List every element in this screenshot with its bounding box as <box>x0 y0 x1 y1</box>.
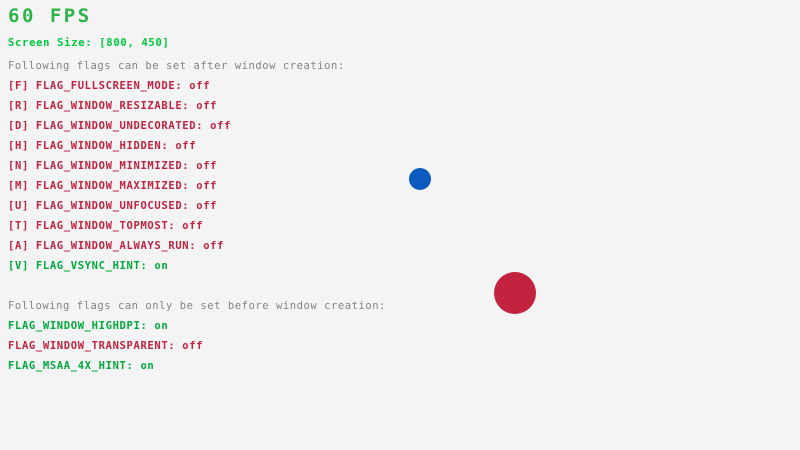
flag-toggle-flag-vsync-hint[interactable]: [V] FLAG_VSYNC_HINT: on <box>8 261 168 272</box>
flag-toggle-flag-window-hidden[interactable]: [H] FLAG_WINDOW_HIDDEN: off <box>8 141 196 152</box>
flag-toggle-flag-window-resizable[interactable]: [R] FLAG_WINDOW_RESIZABLE: off <box>8 101 217 112</box>
flag-toggle-flag-window-maximized[interactable]: [M] FLAG_WINDOW_MAXIMIZED: off <box>8 181 217 192</box>
raylib-window-canvas: 60 FPS Screen Size: [800, 450] Following… <box>0 0 800 450</box>
bouncing-ball-blue <box>409 168 431 190</box>
flag-static-flag-msaa-4x-hint[interactable]: FLAG_MSAA_4X_HINT: on <box>8 361 154 372</box>
runtime-flags-header: Following flags can be set after window … <box>8 61 345 72</box>
flag-static-flag-window-transparent[interactable]: FLAG_WINDOW_TRANSPARENT: off <box>8 341 203 352</box>
screen-size-label: Screen Size: [800, 450] <box>8 38 170 49</box>
flag-toggle-flag-window-unfocused[interactable]: [U] FLAG_WINDOW_UNFOCUSED: off <box>8 201 217 212</box>
creation-flags-header: Following flags can only be set before w… <box>8 301 386 312</box>
flag-static-flag-window-highdpi[interactable]: FLAG_WINDOW_HIGHDPI: on <box>8 321 168 332</box>
flag-toggle-flag-fullscreen-mode[interactable]: [F] FLAG_FULLSCREEN_MODE: off <box>8 81 210 92</box>
flag-toggle-flag-window-topmost[interactable]: [T] FLAG_WINDOW_TOPMOST: off <box>8 221 203 232</box>
bouncing-ball-red <box>494 272 536 314</box>
flag-toggle-flag-window-undecorated[interactable]: [D] FLAG_WINDOW_UNDECORATED: off <box>8 121 231 132</box>
fps-counter: 60 FPS <box>8 7 92 26</box>
flag-toggle-flag-window-always-run[interactable]: [A] FLAG_WINDOW_ALWAYS_RUN: off <box>8 241 224 252</box>
flag-toggle-flag-window-minimized[interactable]: [N] FLAG_WINDOW_MINIMIZED: off <box>8 161 217 172</box>
